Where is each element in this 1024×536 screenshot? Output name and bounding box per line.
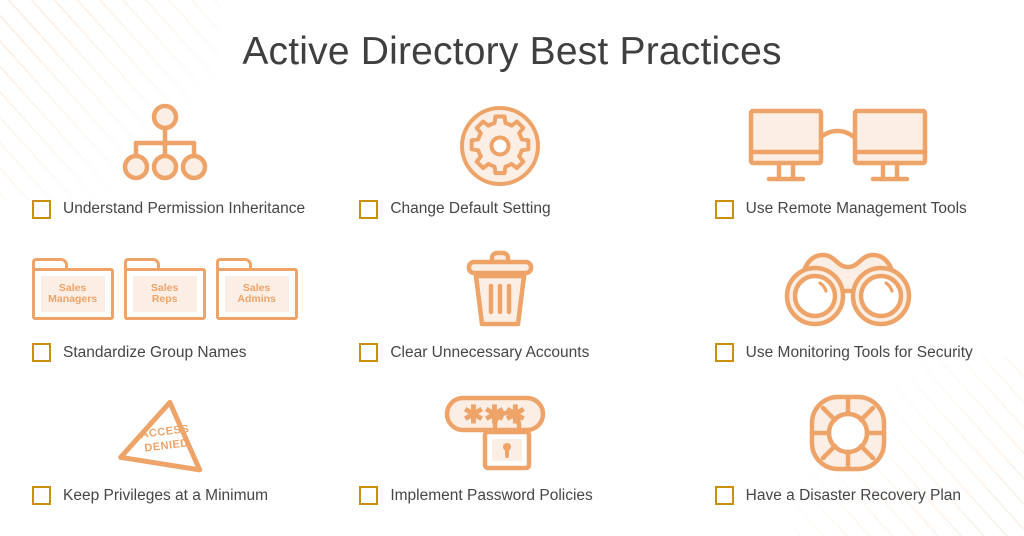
practice-label: Have a Disaster Recovery Plan <box>746 488 961 504</box>
folder-label-panel: Sales Managers <box>41 276 105 312</box>
practice-label: Use Remote Management Tools <box>746 201 967 217</box>
practice-item-understand-permission-inheritance: Understand Permission Inheritance <box>0 100 341 243</box>
practice-label: Standardize Group Names <box>63 345 247 361</box>
practice-label: Keep Privileges at a Minimum <box>63 488 268 504</box>
page-title: Active Directory Best Practices <box>0 30 1024 74</box>
folder-label-panel: Sales Reps <box>133 276 197 312</box>
life-preserver-icon <box>683 387 1024 479</box>
practice-label: Use Monitoring Tools for Security <box>746 345 973 361</box>
three-folders-icon: Sales Managers Sales Reps <box>0 243 341 335</box>
folder-label-line2: Admins <box>237 294 276 306</box>
checkbox-change-default-setting[interactable] <box>359 200 378 219</box>
checkbox-keep-privileges-at-a-minimum[interactable] <box>32 486 51 505</box>
practice-item-use-monitoring-tools-for-security: Use Monitoring Tools for Security <box>683 243 1024 386</box>
practice-label-row[interactable]: Change Default Setting <box>341 192 682 226</box>
folder-label-line2: Reps <box>152 294 178 306</box>
folder-sales-managers: Sales Managers <box>32 258 114 320</box>
checkbox-understand-permission-inheritance[interactable] <box>32 200 51 219</box>
practice-label-row[interactable]: Use Monitoring Tools for Security <box>683 335 1024 369</box>
practice-item-use-remote-management-tools: Use Remote Management Tools <box>683 100 1024 243</box>
practice-label: Implement Password Policies <box>390 488 592 504</box>
binoculars-icon <box>683 243 1024 335</box>
password-field-with-lock-icon: ✱✱✱ <box>341 387 682 479</box>
folder-label-line2: Managers <box>48 294 97 306</box>
practice-label: Change Default Setting <box>390 201 550 217</box>
folder-label-panel: Sales Admins <box>225 276 289 312</box>
folder-body: Sales Reps <box>124 268 206 320</box>
folder-sales-reps: Sales Reps <box>124 258 206 320</box>
practice-label-row[interactable]: Standardize Group Names <box>0 335 341 369</box>
infographic-canvas: Active Directory Best Practices <box>0 0 1024 536</box>
folder-sales-admins: Sales Admins <box>216 258 298 320</box>
two-connected-monitors-icon <box>683 100 1024 192</box>
checkbox-standardize-group-names[interactable] <box>32 343 51 362</box>
practice-item-standardize-group-names: Sales Managers Sales Reps <box>0 243 341 386</box>
checkbox-use-monitoring-tools-for-security[interactable] <box>715 343 734 362</box>
access-denied-text: ACCESS DENIED <box>115 395 216 484</box>
hierarchy-tree-icon <box>0 100 341 192</box>
practice-label-row[interactable]: Have a Disaster Recovery Plan <box>683 479 1024 513</box>
practice-label-row[interactable]: Use Remote Management Tools <box>683 192 1024 226</box>
practice-label-row[interactable]: Clear Unnecessary Accounts <box>341 335 682 369</box>
practice-label-row[interactable]: Implement Password Policies <box>341 479 682 513</box>
checkbox-use-remote-management-tools[interactable] <box>715 200 734 219</box>
checkbox-clear-unnecessary-accounts[interactable] <box>359 343 378 362</box>
practice-item-keep-privileges-at-a-minimum: ACCESS DENIED Keep Privileges at a Minim… <box>0 387 341 530</box>
access-denied-triangle-icon: ACCESS DENIED <box>0 387 341 479</box>
practice-item-implement-password-policies: ✱✱✱ Implement Password Policies <box>341 387 682 530</box>
best-practices-grid: Understand Permission Inheritance Change… <box>0 100 1024 530</box>
folder-body: Sales Admins <box>216 268 298 320</box>
practice-item-clear-unnecessary-accounts: Clear Unnecessary Accounts <box>341 243 682 386</box>
practice-item-have-a-disaster-recovery-plan: Have a Disaster Recovery Plan <box>683 387 1024 530</box>
folder-body: Sales Managers <box>32 268 114 320</box>
gear-in-circle-icon <box>341 100 682 192</box>
practice-label-row[interactable]: Understand Permission Inheritance <box>0 192 341 226</box>
practice-label: Clear Unnecessary Accounts <box>390 345 589 361</box>
practice-label-row[interactable]: Keep Privileges at a Minimum <box>0 479 341 513</box>
practice-label: Understand Permission Inheritance <box>63 201 305 217</box>
practice-item-change-default-setting: Change Default Setting <box>341 100 682 243</box>
trash-can-icon <box>341 243 682 335</box>
checkbox-have-a-disaster-recovery-plan[interactable] <box>715 486 734 505</box>
checkbox-implement-password-policies[interactable] <box>359 486 378 505</box>
